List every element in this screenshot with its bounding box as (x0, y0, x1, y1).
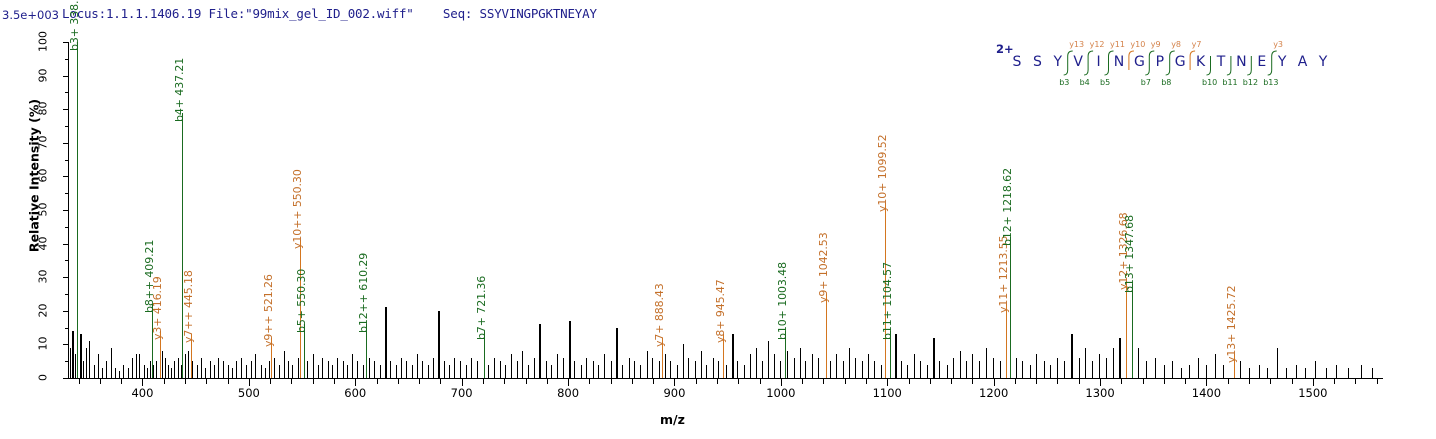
y-tick-minor (65, 328, 68, 329)
spectrum-peak (347, 365, 348, 378)
spectrum-peak (1016, 358, 1017, 378)
spectrum-peak (862, 361, 863, 378)
x-tick-label: 400 (117, 386, 167, 400)
spectrum-peak (598, 365, 599, 378)
ladder-b-ion-label: b3 (1059, 78, 1069, 87)
spectrum-peak (1223, 365, 1224, 378)
spectrum-peak (787, 351, 788, 378)
spectrum-peak (843, 361, 844, 378)
spectrum-peak (665, 354, 666, 378)
x-tick-label: 800 (543, 386, 593, 400)
spectrum-peak (1215, 354, 1216, 378)
spectrum-peak (1259, 365, 1260, 378)
spectrum-peak (953, 358, 954, 378)
spectrum-peak (895, 334, 897, 378)
ion-peak-label: y7++ 445.18 (182, 270, 195, 343)
spectrum-peak (622, 365, 623, 378)
x-tick (483, 379, 484, 384)
ion-peak-y (1006, 304, 1007, 378)
spectrum-peak (574, 361, 575, 378)
ion-peak-label: b3+ 338.14 (68, 0, 81, 51)
spectrum-peak (1057, 358, 1058, 378)
x-tick (909, 379, 910, 384)
plot-area: 0102030405060708090100 40050060070080090… (68, 42, 1382, 378)
spectrum-peak (363, 365, 364, 378)
x-tick (121, 379, 122, 384)
y-tick-minor (65, 92, 68, 93)
y-tick-minor (65, 260, 68, 261)
spectrum-peak (139, 354, 140, 378)
y-tick (63, 143, 68, 144)
spectrum-peak (1099, 354, 1100, 378)
spectrum-peak (744, 365, 745, 378)
x-tick (674, 379, 675, 386)
spectrum-peak (1277, 348, 1278, 378)
x-tick (228, 379, 229, 384)
spectrum-peak (449, 365, 450, 378)
spectrum-peak (756, 348, 757, 378)
spectrum-peak (269, 361, 270, 378)
spectrum-peak (150, 361, 151, 378)
spectrum-peak (534, 358, 535, 378)
spectrum-peak (390, 361, 391, 378)
y-tick-label: 10 (37, 329, 50, 359)
y-tick-minor (65, 160, 68, 161)
spectrum-peak (265, 368, 266, 378)
x-tick (1292, 379, 1293, 384)
x-tick (1228, 379, 1229, 384)
spectrum-peak (569, 321, 571, 378)
spectrum-peak (328, 361, 329, 378)
x-tick (1079, 379, 1080, 384)
spectrum-peak (201, 358, 202, 378)
spectrum-peak (132, 358, 133, 378)
y-tick (63, 344, 68, 345)
spectrum-peak (444, 361, 445, 378)
spectrum-peak (774, 354, 775, 378)
spectrum-peak (246, 365, 247, 378)
spectrum-peak (298, 358, 299, 378)
x-tick (1270, 379, 1271, 384)
x-tick (355, 379, 356, 386)
spectrum-peak (406, 361, 407, 378)
ion-peak-label: y3+ 416.19 (151, 276, 164, 340)
spectrum-peak (986, 348, 987, 378)
spectrum-peak (505, 365, 506, 378)
spectrum-peak (1326, 368, 1327, 378)
spectrum-peak (1106, 358, 1107, 378)
spectrum-peak (634, 361, 635, 378)
spectrum-peak (174, 361, 175, 378)
ladder-b-ion-label: b4 (1080, 78, 1090, 87)
ladder-y-ion-label: y12 (1090, 40, 1105, 49)
spectrum-peak (713, 358, 714, 378)
ion-peak-y (1126, 281, 1127, 378)
spectrum-peak (1146, 361, 1147, 378)
x-tick (1355, 379, 1356, 384)
x-tick (377, 379, 378, 384)
y-tick-label: 60 (37, 161, 50, 191)
ion-peak-label: y8+ 945.47 (714, 280, 727, 344)
spectrum-peak (89, 341, 90, 378)
spectrum-peak (1036, 354, 1037, 378)
ion-peak-label: b12+ 1218.62 (1001, 168, 1014, 246)
spectrum-peak (102, 368, 103, 378)
spectrum-peak (1085, 348, 1086, 378)
spectrum-peak (522, 351, 523, 378)
spectrum-peak (1189, 365, 1190, 378)
spectrum-peak (517, 361, 518, 378)
y-tick-label: 30 (37, 262, 50, 292)
spectrum-peak (701, 351, 702, 378)
spectrum-peak (307, 361, 308, 378)
ion-peak-b (77, 42, 78, 378)
ion-peak-y (826, 294, 827, 378)
ladder-b-ion-label: b5 (1100, 78, 1110, 87)
spectrum-peak (616, 328, 618, 378)
spectrum-peak (972, 354, 973, 378)
spectrum-peak (718, 361, 719, 378)
ion-peak-label: y7+ 888.43 (653, 283, 666, 347)
spectrum-peak (1030, 365, 1031, 378)
sequence-ladder: 2+ SSYVINGPGKTNEYAYy13y12y11y10y9y8y7y3b… (996, 38, 1346, 92)
spectrum-peak (581, 365, 582, 378)
x-tick-label: 1100 (862, 386, 912, 400)
spectrum-peak (640, 365, 641, 378)
spectrum-peak (706, 365, 707, 378)
spectrum-peak (352, 354, 353, 378)
ladder-b-ion-label: b10 (1202, 78, 1217, 87)
x-tick (1036, 379, 1037, 384)
spectrum-peak (1172, 361, 1173, 378)
spectrum-peak (98, 354, 99, 378)
spectrum-peak (274, 358, 275, 378)
x-tick (717, 379, 718, 384)
spectrum-peak (471, 358, 472, 378)
spectrum-peak (901, 361, 902, 378)
y-tick (63, 176, 68, 177)
spectrum-peak (1044, 361, 1045, 378)
x-tick (1334, 379, 1335, 384)
x-tick-label: 1500 (1288, 386, 1338, 400)
x-tick (398, 379, 399, 384)
spectrum-peak (385, 307, 387, 378)
x-tick (994, 379, 995, 386)
x-tick (79, 379, 80, 384)
spectrum-peak (223, 361, 224, 378)
y-tick (63, 109, 68, 110)
spectrum-peak (111, 348, 112, 378)
y-tick-label: 20 (37, 295, 50, 325)
ion-peak-b (1010, 237, 1011, 378)
spectrum-peak (80, 334, 82, 378)
spectrum-peak (477, 361, 478, 378)
spectrum-peak (1000, 361, 1001, 378)
spectrum-peak (337, 358, 338, 378)
spectrum-peak (178, 358, 179, 378)
spectrum-title: Locus:1.1.1.1406.19 File:"99mix_gel_ID_0… (62, 6, 597, 21)
x-tick-label: 1000 (756, 386, 806, 400)
spectrum-peak (611, 361, 612, 378)
spectrum-peak (586, 358, 587, 378)
spectrum-peak (374, 361, 375, 378)
spectrum-peak (332, 365, 333, 378)
ladder-y-ion-label: y11 (1110, 40, 1125, 49)
spectrum-peak (228, 365, 229, 378)
x-tick (249, 379, 250, 386)
spectrum-peak (255, 354, 256, 378)
spectrum-peak (1240, 361, 1241, 378)
x-tick (845, 379, 846, 384)
y-tick-minor (65, 126, 68, 127)
y-tick (63, 311, 68, 312)
x-tick (270, 379, 271, 384)
y-axis-line (68, 42, 69, 379)
ion-peak-label: y11+ 1213.55 (997, 236, 1010, 314)
spectrum-peak (313, 354, 314, 378)
spectrum-peak (1305, 368, 1306, 378)
x-tick (462, 379, 463, 386)
spectrum-viewer: 3.5e+003 Locus:1.1.1.1406.19 File:"99mix… (0, 0, 1436, 439)
spectrum-peak (1050, 365, 1051, 378)
spectrum-peak (1336, 365, 1337, 378)
x-tick (589, 379, 590, 384)
x-tick (611, 379, 612, 384)
x-tick-label: 500 (224, 386, 274, 400)
spectrum-peak (849, 348, 850, 378)
spectrum-peak (868, 354, 869, 378)
y-tick (63, 210, 68, 211)
x-tick (1015, 379, 1016, 384)
ion-peak-label: y10++ 550.30 (291, 170, 304, 250)
spectrum-peak (695, 361, 696, 378)
x-tick (887, 379, 888, 386)
spectrum-peak (500, 361, 501, 378)
spectrum-peak (907, 365, 908, 378)
spectrum-peak (593, 361, 594, 378)
spectrum-peak (688, 358, 689, 378)
spectrum-peak (563, 358, 564, 378)
spectrum-peak (1361, 365, 1362, 378)
spectrum-peak (1113, 348, 1114, 378)
spectrum-peak (818, 358, 819, 378)
x-tick (930, 379, 931, 384)
spectrum-peak (683, 344, 684, 378)
spectrum-peak (726, 365, 727, 378)
spectrum-peak (1092, 361, 1093, 378)
ion-peak-label: y9+ 1042.53 (817, 232, 830, 303)
ion-peak-label: y10+ 1099.52 (876, 135, 889, 213)
spectrum-peak (670, 361, 671, 378)
spectrum-peak (357, 361, 358, 378)
spectrum-peak (881, 365, 882, 378)
x-axis-title: m/z (660, 412, 685, 427)
spectrum-peak (557, 354, 558, 378)
ion-peak-b (1132, 284, 1133, 378)
x-tick (1143, 379, 1144, 384)
spectrum-peak (647, 351, 648, 378)
x-tick (653, 379, 654, 384)
ion-peak-label: b4+ 437.21 (173, 57, 186, 121)
x-tick-label: 700 (437, 386, 487, 400)
spectrum-peak (236, 361, 237, 378)
y-tick (63, 277, 68, 278)
spectrum-peak (914, 354, 915, 378)
x-tick (142, 379, 143, 386)
x-tick (526, 379, 527, 384)
spectrum-peak (750, 354, 751, 378)
ion-peak-label: b13+ 1347.68 (1123, 215, 1136, 293)
spectrum-peak (218, 358, 219, 378)
spectrum-peak (168, 365, 169, 378)
spectrum-peak (343, 361, 344, 378)
spectrum-peak (147, 368, 148, 378)
y-tick-label: 0 (37, 363, 50, 393)
spectrum-peak (369, 358, 370, 378)
spectrum-peak (412, 365, 413, 378)
spectrum-peak (947, 365, 948, 378)
x-tick-label: 1200 (969, 386, 1019, 400)
spectrum-peak (539, 324, 541, 378)
ladder-y-ion-label: y8 (1171, 40, 1181, 49)
spectrum-peak (401, 358, 402, 378)
ion-peak-label: b7+ 721.36 (475, 276, 488, 340)
x-tick (696, 379, 697, 384)
spectrum-peak (604, 354, 605, 378)
spectrum-peak (780, 361, 781, 378)
x-tick-label: 900 (649, 386, 699, 400)
spectrum-peak (979, 361, 980, 378)
x-tick (206, 379, 207, 384)
spectrum-peak (966, 361, 967, 378)
x-tick (1057, 379, 1058, 384)
spectrum-peak (927, 365, 928, 378)
spectrum-peak (732, 334, 734, 378)
y-tick-minor (65, 193, 68, 194)
spectrum-peak (1315, 361, 1316, 378)
x-tick (334, 379, 335, 384)
spectrum-peak (1348, 368, 1349, 378)
spectrum-peak (162, 351, 163, 378)
x-tick (632, 379, 633, 384)
x-tick-label: 1300 (1075, 386, 1125, 400)
x-tick (1249, 379, 1250, 384)
spectrum-peak (185, 354, 186, 378)
spectrum-peak (920, 361, 921, 378)
x-tick (185, 379, 186, 384)
x-tick (823, 379, 824, 384)
x-tick (100, 379, 101, 384)
x-tick (866, 379, 867, 384)
spectrum-peak (94, 365, 95, 378)
x-tick (440, 379, 441, 384)
spectrum-peak (438, 311, 440, 378)
spectrum-peak (494, 358, 495, 378)
x-tick (313, 379, 314, 384)
ladder-b-ion-label: b11 (1222, 78, 1237, 87)
x-tick (1121, 379, 1122, 384)
spectrum-peak (993, 358, 994, 378)
spectrum-peak (396, 365, 397, 378)
spectrum-peak (794, 358, 795, 378)
spectrum-peak (812, 354, 813, 378)
spectrum-peak (836, 354, 837, 378)
spectrum-peak (232, 368, 233, 378)
spectrum-peak (422, 361, 423, 378)
spectrum-peak (1181, 368, 1182, 378)
ladder-b-ion-label: b12 (1243, 78, 1258, 87)
spectrum-peak (156, 361, 157, 378)
spectrum-peak (192, 361, 193, 378)
spectrum-peak (551, 365, 552, 378)
x-tick (291, 379, 292, 384)
spectrum-peak (205, 368, 206, 378)
spectrum-peak (86, 348, 87, 378)
x-tick (802, 379, 803, 384)
spectrum-peak (171, 368, 172, 378)
spectrum-peak (380, 365, 381, 378)
y-tick-minor (65, 227, 68, 228)
spectrum-peak (1079, 358, 1080, 378)
y-tick (63, 76, 68, 77)
spectrum-peak (874, 361, 875, 378)
spectrum-peak (546, 361, 547, 378)
spectrum-peak (1138, 348, 1139, 378)
x-tick (1377, 379, 1378, 384)
spectrum-peak (1164, 365, 1165, 378)
ladder-y-ion-label: y10 (1130, 40, 1145, 49)
x-tick (1206, 379, 1207, 386)
spectrum-peak (1119, 338, 1121, 378)
spectrum-peak (454, 358, 455, 378)
spectrum-peak (417, 354, 418, 378)
ion-peak-label: y9++ 521.26 (262, 274, 275, 347)
spectrum-peak (488, 365, 489, 378)
ion-peak-label: b10+ 1003.48 (776, 262, 789, 340)
x-tick (1313, 379, 1314, 386)
x-tick (781, 379, 782, 386)
spectrum-peak (128, 368, 129, 378)
ladder-y-ion-label: y3 (1273, 40, 1283, 49)
spectrum-peak (136, 354, 137, 378)
spectrum-peak (210, 361, 211, 378)
spectrum-peak (762, 361, 763, 378)
spectrum-peak (1071, 334, 1073, 378)
spectrum-peak (1286, 368, 1287, 378)
x-tick (1100, 379, 1101, 386)
ion-peak-label: y13+ 1425.72 (1225, 286, 1238, 364)
x-tick-label: 600 (330, 386, 380, 400)
y-tick-minor (65, 294, 68, 295)
x-tick (547, 379, 548, 384)
spectrum-peak (659, 361, 660, 378)
spectrum-peak (1206, 365, 1207, 378)
x-tick (1185, 379, 1186, 384)
spectrum-peak (677, 365, 678, 378)
spectrum-peak (933, 338, 935, 378)
spectrum-peak (528, 365, 529, 378)
spectrum-peak (322, 358, 323, 378)
spectrum-peak (1372, 368, 1373, 378)
ion-peak-label: b5+ 550.30 (295, 269, 308, 333)
spectrum-peak (119, 371, 120, 378)
x-tick (164, 379, 165, 384)
spectrum-peak (70, 348, 71, 378)
spectrum-peak (855, 358, 856, 378)
ladder-b-ion-label: b8 (1161, 78, 1171, 87)
x-tick (738, 379, 739, 384)
x-tick (568, 379, 569, 386)
